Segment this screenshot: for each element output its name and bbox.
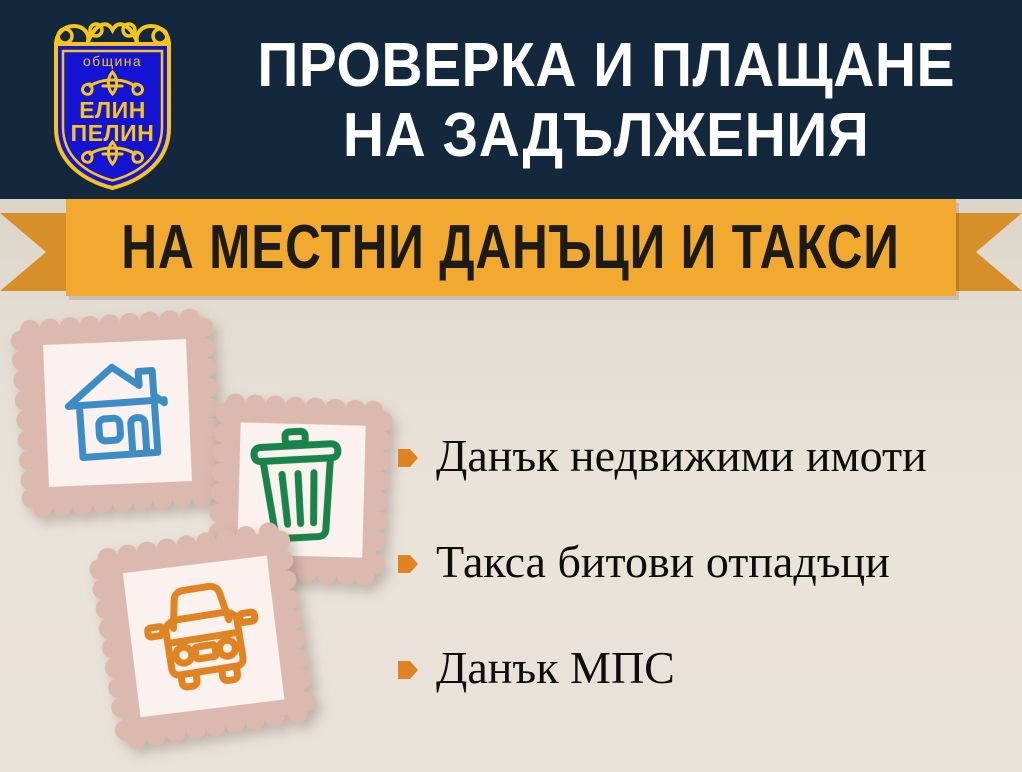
stamp-card-group [0,300,420,772]
list-item-label: Данък недвижими имоти [436,430,927,482]
title-line-2: НА ЗАДЪЛЖЕНИЯ [343,101,869,171]
subtitle-ribbon: НА МЕСТНИ ДАНЪЦИ И ТАКСИ [0,199,1022,304]
house-stamp [3,301,232,525]
poster-canvas: община ЕЛИН ПЕЛИН ПРОВЕРКА И ПЛАЩАНЕ НА … [0,0,1022,772]
arrow-bullet-icon [398,552,418,576]
list-item-label: Такса битови отпадъци [436,536,890,588]
tax-type-list: Данък недвижими имоти Такса битови отпад… [398,420,1008,738]
arrow-bullet-icon [398,446,418,470]
municipality-logo: община ЕЛИН ПЕЛИН [30,8,195,193]
svg-text:ПЕЛИН: ПЕЛИН [71,120,155,146]
list-item[interactable]: Данък МПС [398,632,1008,704]
car-stamp [80,513,326,759]
ribbon-text: НА МЕСТНИ ДАНЪЦИ И ТАКСИ [122,216,900,280]
title-line-1: ПРОВЕРКА И ПЛАЩАНЕ [257,31,955,101]
list-item[interactable]: Данък недвижими имоти [398,420,1008,492]
arrow-bullet-icon [398,658,418,682]
poster-header: община ЕЛИН ПЕЛИН ПРОВЕРКА И ПЛАЩАНЕ НА … [0,0,1022,199]
ribbon-band: НА МЕСТНИ ДАНЪЦИ И ТАКСИ [66,199,956,296]
poster-title: ПРОВЕРКА И ПЛАЩАНЕ НА ЗАДЪЛЖЕНИЯ [196,16,1016,186]
list-item[interactable]: Такса битови отпадъци [398,526,1008,598]
list-item-label: Данък МПС [436,642,675,694]
svg-text:община: община [83,53,142,69]
